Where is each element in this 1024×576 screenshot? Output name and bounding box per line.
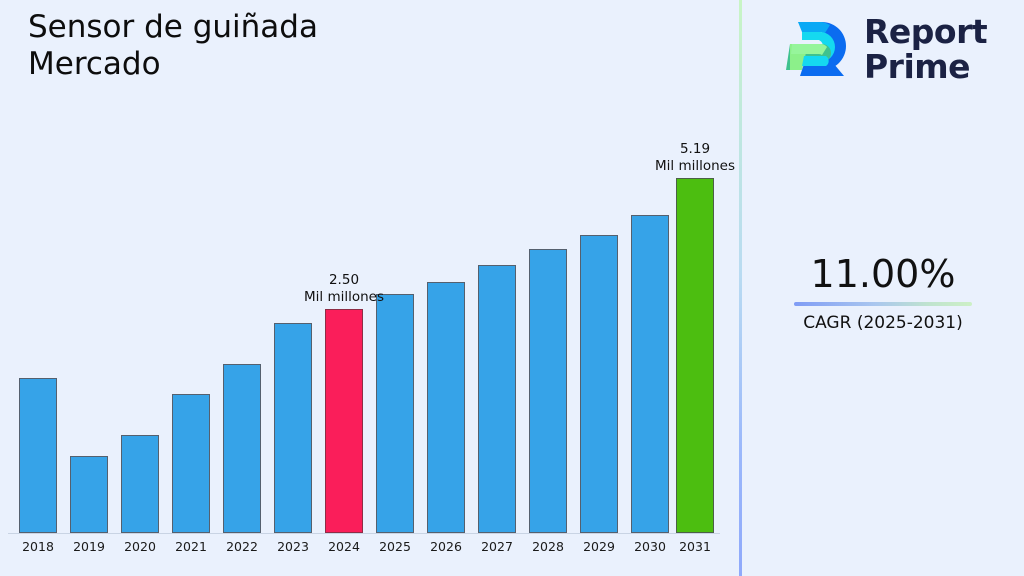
bar-2021[interactable] bbox=[172, 394, 210, 533]
bar-2020[interactable] bbox=[121, 435, 159, 533]
cagr-block: 11.00% CAGR (2025-2031) bbox=[742, 252, 1024, 334]
chart-panel: Sensor de guiñada Mercado 2.50 Mil millo… bbox=[0, 0, 740, 576]
side-panel: Report Prime 11.00% CAGR (2025-2031) bbox=[742, 0, 1024, 576]
bar-2028[interactable] bbox=[529, 249, 567, 533]
bar-2018[interactable] bbox=[19, 378, 57, 533]
bar-2030[interactable] bbox=[631, 215, 669, 533]
report-prime-logo-mark-icon bbox=[778, 14, 854, 90]
bar-2025[interactable] bbox=[376, 294, 414, 533]
cagr-divider-rule bbox=[794, 302, 972, 306]
infographic-root: Sensor de guiñada Mercado 2.50 Mil millo… bbox=[0, 0, 1024, 576]
bar-value-label-2024: 2.50 Mil millones bbox=[274, 272, 414, 306]
x-tick-2031: 2031 bbox=[665, 539, 725, 554]
bar-2023[interactable] bbox=[274, 323, 312, 533]
bar-2029[interactable] bbox=[580, 235, 618, 533]
cagr-value: 11.00% bbox=[742, 252, 1024, 296]
bar-chart-plot-area: 2.50 Mil millones 5.19 Mil millones 2018… bbox=[0, 0, 740, 576]
cagr-caption: CAGR (2025-2031) bbox=[742, 312, 1024, 334]
bar-2019[interactable] bbox=[70, 456, 108, 533]
brand-logo-text: Report Prime bbox=[864, 14, 987, 84]
bar-2022[interactable] bbox=[223, 364, 261, 533]
x-axis-baseline bbox=[8, 533, 720, 534]
brand-logo: Report Prime bbox=[778, 10, 1010, 94]
bar-2027[interactable] bbox=[478, 265, 516, 533]
bar-2024[interactable] bbox=[325, 309, 363, 533]
bar-2031[interactable] bbox=[676, 178, 714, 533]
bar-2026[interactable] bbox=[427, 282, 465, 533]
